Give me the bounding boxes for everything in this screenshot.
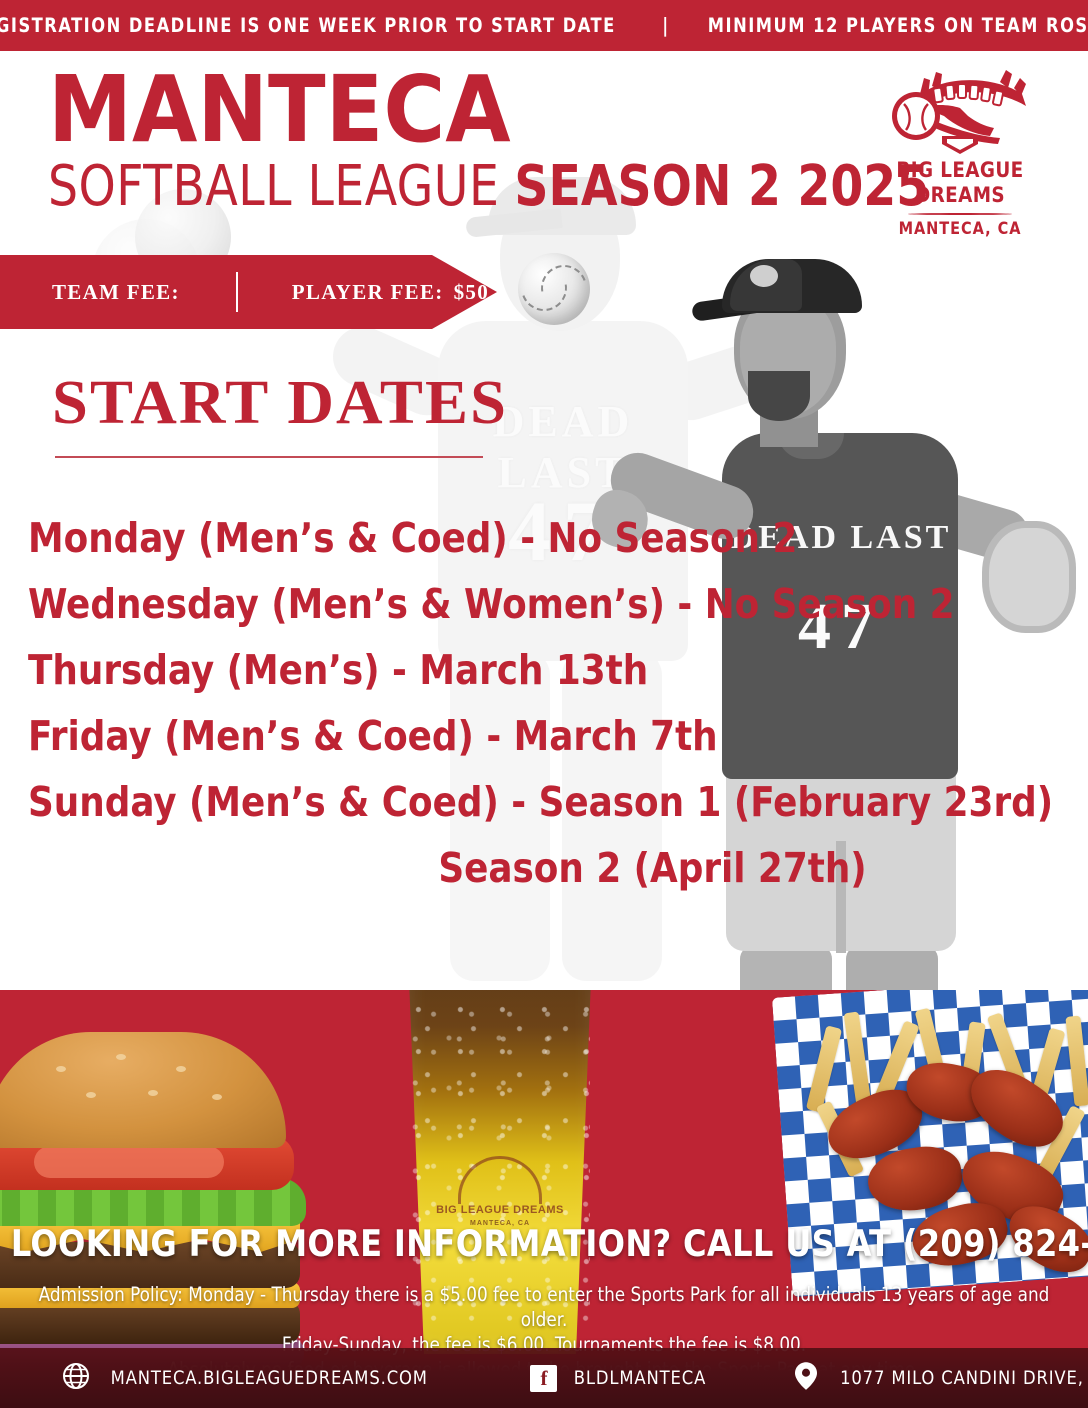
stadium-baseball-icon [872,64,1048,156]
page-title: MANTECA SOFTBALL LEAGUE SEASON 2 2025 [48,68,985,215]
start-date-item: Season 2 (April 27th) [54,835,888,901]
cup-logo-brand: BIG LEAGUE DREAMS [436,1204,564,1216]
baseball-glove-icon [982,521,1076,633]
minimum-players-text: MINIMUM 12 PLAYERS ON TEAM ROSTER [707,14,1088,37]
call-to-action-text: LOOKING FOR MORE INFORMATION? CALL US AT… [11,1222,1077,1265]
fee-divider [236,272,238,312]
address-item[interactable]: 1077 MILO CANDINI DRIVE, MANTECA, CA 953… [795,1362,1088,1395]
website-link[interactable]: MANTECA.BIGLEAGUEDREAMS.COM [62,1362,434,1395]
banner-separator: | [641,14,689,37]
start-date-item: Monday (Men’s & Coed) - No Season 2 [28,505,862,571]
start-date-item: Wednesday (Men’s & Women’s) - No Season … [28,571,862,637]
softball-icon [518,253,590,325]
logo-city-name: MANTECA, CA [876,219,1043,239]
facebook-link[interactable]: f BLDLMANTECA [530,1365,709,1392]
website-text: MANTECA.BIGLEAGUEDREAMS.COM [111,1367,428,1389]
logo-divider [908,213,1012,215]
flyer-page: REGISTRATION DEADLINE IS ONE WEEK PRIOR … [0,0,1088,1408]
team-fee-label: TEAM FEE: [52,280,180,305]
start-date-item: Friday (Men’s & Coed) - March 7th [28,703,862,769]
logo-brand-name: BIG LEAGUE DREAMS [876,158,1043,208]
player-fee-group: PLAYER FEE:$50 [292,280,489,305]
facebook-handle: BLDLMANTECA [574,1367,706,1389]
location-pin-icon [795,1362,817,1395]
title-season: SEASON 2 2025 [514,154,929,219]
registration-deadline-text: REGISTRATION DEADLINE IS ONE WEEK PRIOR … [0,14,615,37]
registration-banner: REGISTRATION DEADLINE IS ONE WEEK PRIOR … [0,0,1088,51]
start-date-item: Thursday (Men’s) - March 13th [28,637,862,703]
start-dates-heading: START DATES [52,368,508,439]
facebook-icon: f [530,1365,557,1392]
big-league-dreams-logo: BIG LEAGUE DREAMS MANTECA, CA [872,64,1048,239]
cheeseburger-image [0,1032,298,1322]
globe-icon [62,1362,90,1395]
title-city: MANTECA [48,68,1004,153]
policy-line-1: Admission Policy: Monday - Thursday ther… [22,1282,1066,1332]
address-text: 1077 MILO CANDINI DRIVE, MANTECA, CA 953… [840,1367,1088,1389]
start-date-item: Sunday (Men’s & Coed) - Season 1 (Februa… [28,769,862,835]
start-dates-underline [55,456,483,458]
player-fee-label: PLAYER FEE: [292,280,444,304]
start-dates-list: Monday (Men’s & Coed) - No Season 2 Wedn… [28,505,888,901]
fee-banner: TEAM FEE: PLAYER FEE:$50 [0,255,497,329]
title-subtitle: SOFTBALL LEAGUE SEASON 2 2025 [48,159,929,215]
title-league: SOFTBALL LEAGUE [48,154,499,219]
footer-contact-bar: MANTECA.BIGLEAGUEDREAMS.COM f BLDLMANTEC… [0,1348,1088,1408]
